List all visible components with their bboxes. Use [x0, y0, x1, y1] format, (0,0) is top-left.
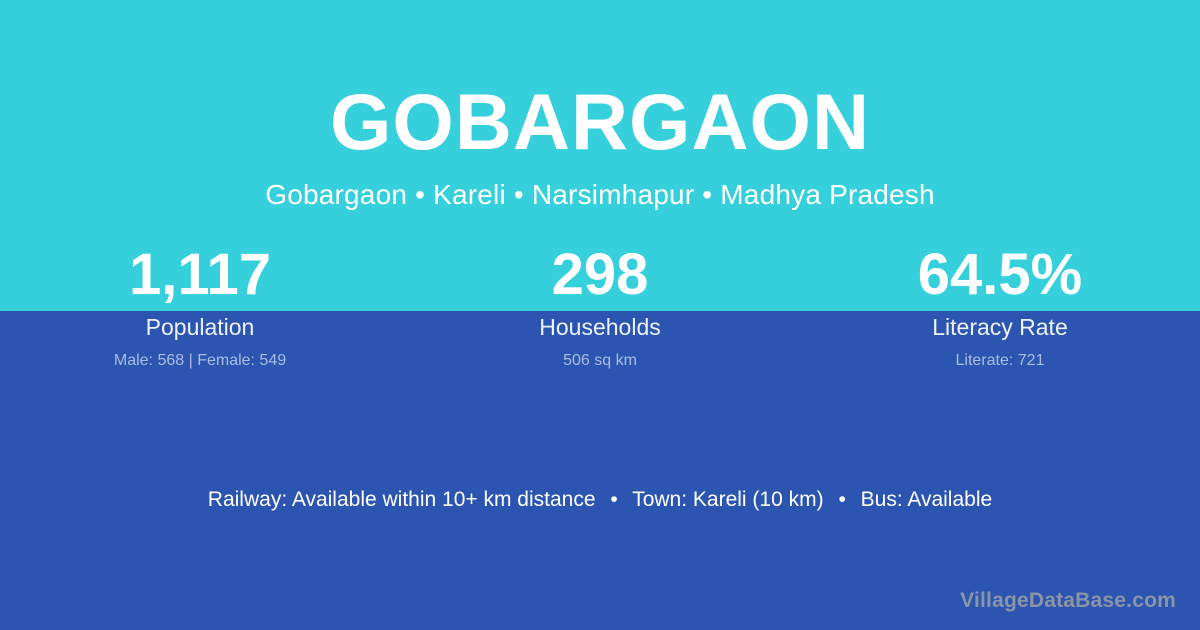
stat-sublabel: Literate: 721: [800, 342, 1200, 372]
stat-households: 298 Households 506 sq km: [400, 242, 800, 372]
amenity-separator: •: [601, 486, 626, 514]
card-header: GOBARGAON Gobargaon • Kareli • Narsimhap…: [0, 0, 1200, 211]
stats-row: 1,117 Population Male: 568 | Female: 549…: [0, 242, 1200, 372]
stat-label: Literacy Rate: [800, 308, 1200, 342]
site-watermark: VillageDataBase.com: [960, 588, 1176, 614]
stat-label: Population: [0, 308, 400, 342]
amenity-railway: Railway: Available within 10+ km distanc…: [208, 488, 596, 511]
stat-sublabel: 506 sq km: [400, 342, 800, 372]
village-info-card: GOBARGAON Gobargaon • Kareli • Narsimhap…: [0, 0, 1200, 630]
page-title: GOBARGAON: [0, 0, 1200, 161]
stat-value: 64.5%: [800, 242, 1200, 308]
amenity-separator: •: [829, 486, 854, 514]
stat-value: 298: [400, 242, 800, 308]
amenity-town: Town: Kareli (10 km): [632, 488, 823, 511]
stat-label: Households: [400, 308, 800, 342]
stat-value: 1,117: [0, 242, 400, 308]
stat-population: 1,117 Population Male: 568 | Female: 549: [0, 242, 400, 372]
breadcrumb: Gobargaon • Kareli • Narsimhapur • Madhy…: [0, 161, 1200, 211]
amenities-line: Railway: Available within 10+ km distanc…: [0, 486, 1200, 514]
stat-literacy-rate: 64.5% Literacy Rate Literate: 721: [800, 242, 1200, 372]
stat-sublabel: Male: 568 | Female: 549: [0, 342, 400, 372]
amenity-bus: Bus: Available: [861, 488, 993, 511]
